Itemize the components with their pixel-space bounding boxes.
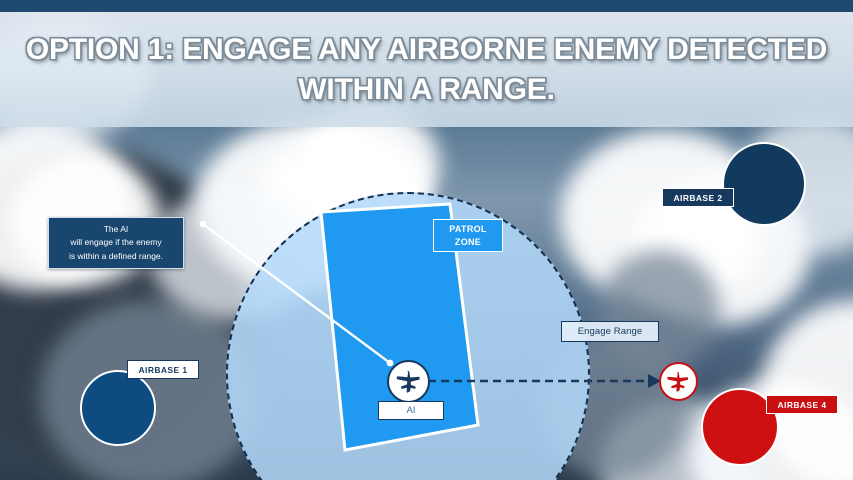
fighter-jet-icon <box>665 370 692 394</box>
airbase-1-marker[interactable] <box>80 370 156 446</box>
cloud-decoration <box>600 250 720 370</box>
patrol-zone-label-text: PATROL ZONE <box>449 223 486 247</box>
airbase-2-marker[interactable] <box>722 142 806 226</box>
page-title: OPTION 1: ENGAGE ANY AIRBORNE ENEMY DETE… <box>12 30 842 110</box>
airbase-2-label[interactable]: AIRBASE 2 <box>662 188 734 207</box>
ai-label[interactable]: AI <box>378 401 444 420</box>
patrol-zone-label[interactable]: PATROL ZONE <box>433 219 503 252</box>
title-band: OPTION 1: ENGAGE ANY AIRBORNE ENEMY DETE… <box>0 12 853 127</box>
slide-canvas: The AI will engage if the enemy is withi… <box>0 0 853 480</box>
engage-range-label-text: Engage Range <box>578 326 643 337</box>
enemy-aircraft-marker[interactable] <box>659 362 698 401</box>
callout-box: The AI will engage if the enemy is withi… <box>48 217 184 269</box>
airbase-1-label[interactable]: AIRBASE 1 <box>127 360 199 379</box>
airbase-4-label-text: AIRBASE 4 <box>778 400 827 410</box>
callout-text: The AI will engage if the enemy is withi… <box>69 223 163 263</box>
engage-range-label[interactable]: Engage Range <box>561 321 659 342</box>
top-accent-strip <box>0 0 853 12</box>
airbase-4-label[interactable]: AIRBASE 4 <box>766 395 838 414</box>
ai-label-text: AI <box>407 405 416 416</box>
airbase-2-label-text: AIRBASE 2 <box>674 193 723 203</box>
airbase-1-label-text: AIRBASE 1 <box>139 365 188 375</box>
ai-aircraft-marker[interactable] <box>387 360 430 403</box>
fighter-jet-icon <box>394 369 424 395</box>
